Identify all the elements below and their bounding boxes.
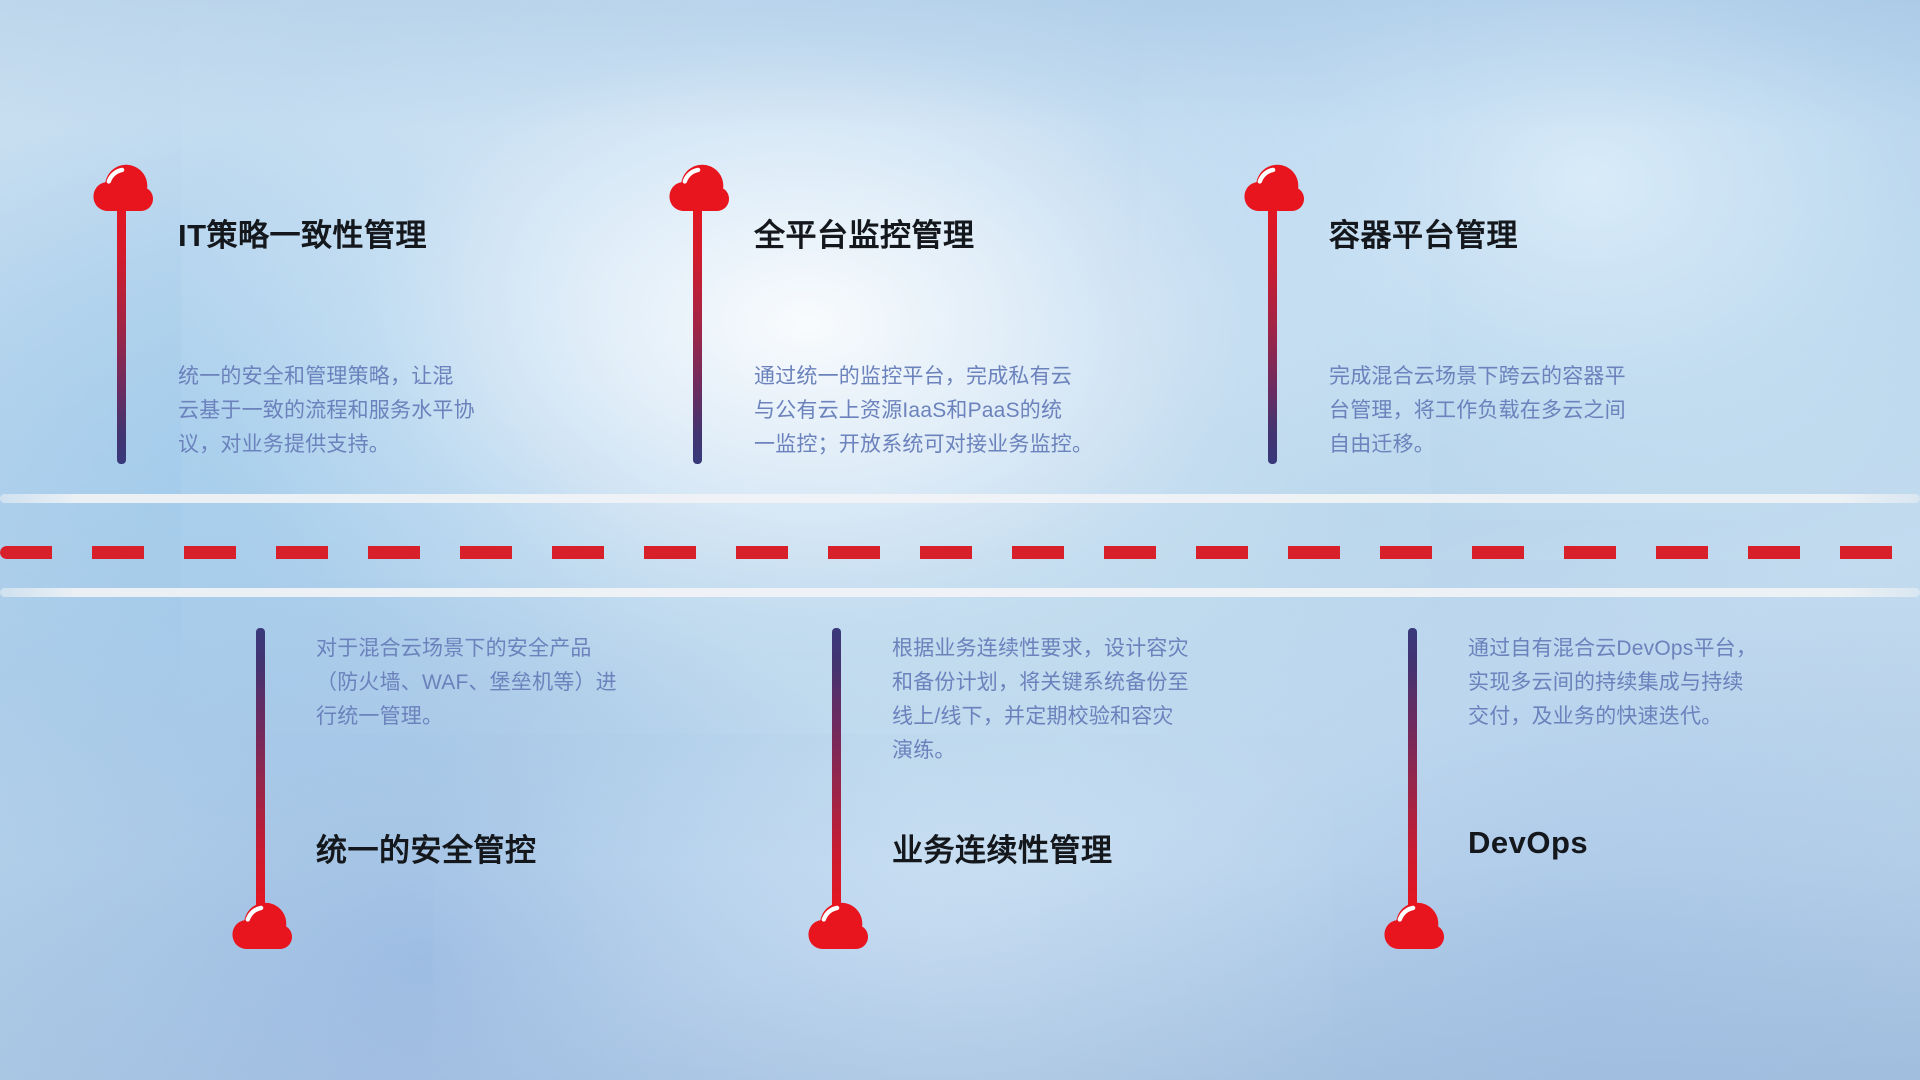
item-description: 完成混合云场景下跨云的容器平 台管理，将工作负载在多云之间 自由迁移。: [1329, 360, 1759, 462]
road-rail-bottom-icon: [0, 588, 1920, 597]
cloud-icon: [807, 900, 869, 957]
item-title: 业务连续性管理: [892, 825, 1113, 870]
item-title: DevOps: [1468, 825, 1588, 861]
item-title: IT策略一致性管理: [178, 210, 427, 255]
item-description: 通过自有混合云DevOps平台， 实现多云间的持续集成与持续 交付，及业务的快速…: [1468, 632, 1898, 734]
marker-stem: [693, 196, 702, 464]
marker-stem: [832, 628, 841, 912]
road-rail-top-icon: [0, 494, 1920, 503]
item-title: 统一的安全管控: [316, 825, 537, 870]
item-description: 统一的安全和管理策略，让混 云基于一致的流程和服务水平协 议，对业务提供支持。: [178, 360, 608, 462]
item-title: 容器平台管理: [1329, 210, 1518, 255]
cloud-icon: [1383, 900, 1445, 957]
item-description: 根据业务连续性要求，设计容灾 和备份计划，将关键系统备份至 线上/线下，并定期校…: [892, 632, 1322, 768]
cloud-icon: [92, 162, 154, 219]
infographic-canvas: IT策略一致性管理 统一的安全和管理策略，让混 云基于一致的流程和服务水平协 议…: [0, 0, 1920, 1080]
cloud-icon: [668, 162, 730, 219]
item-title: 全平台监控管理: [754, 210, 975, 255]
marker-stem: [1408, 628, 1417, 912]
item-description: 对于混合云场景下的安全产品 （防火墙、WAF、堡垒机等）进 行统一管理。: [316, 632, 746, 734]
road-center-dashes-icon: [0, 546, 1920, 559]
item-description: 通过统一的监控平台，完成私有云 与公有云上资源IaaS和PaaS的统 一监控；开…: [754, 360, 1184, 462]
marker-stem: [256, 628, 265, 912]
marker-stem: [1268, 196, 1277, 464]
cloud-icon: [231, 900, 293, 957]
marker-stem: [117, 196, 126, 464]
cloud-icon: [1243, 162, 1305, 219]
